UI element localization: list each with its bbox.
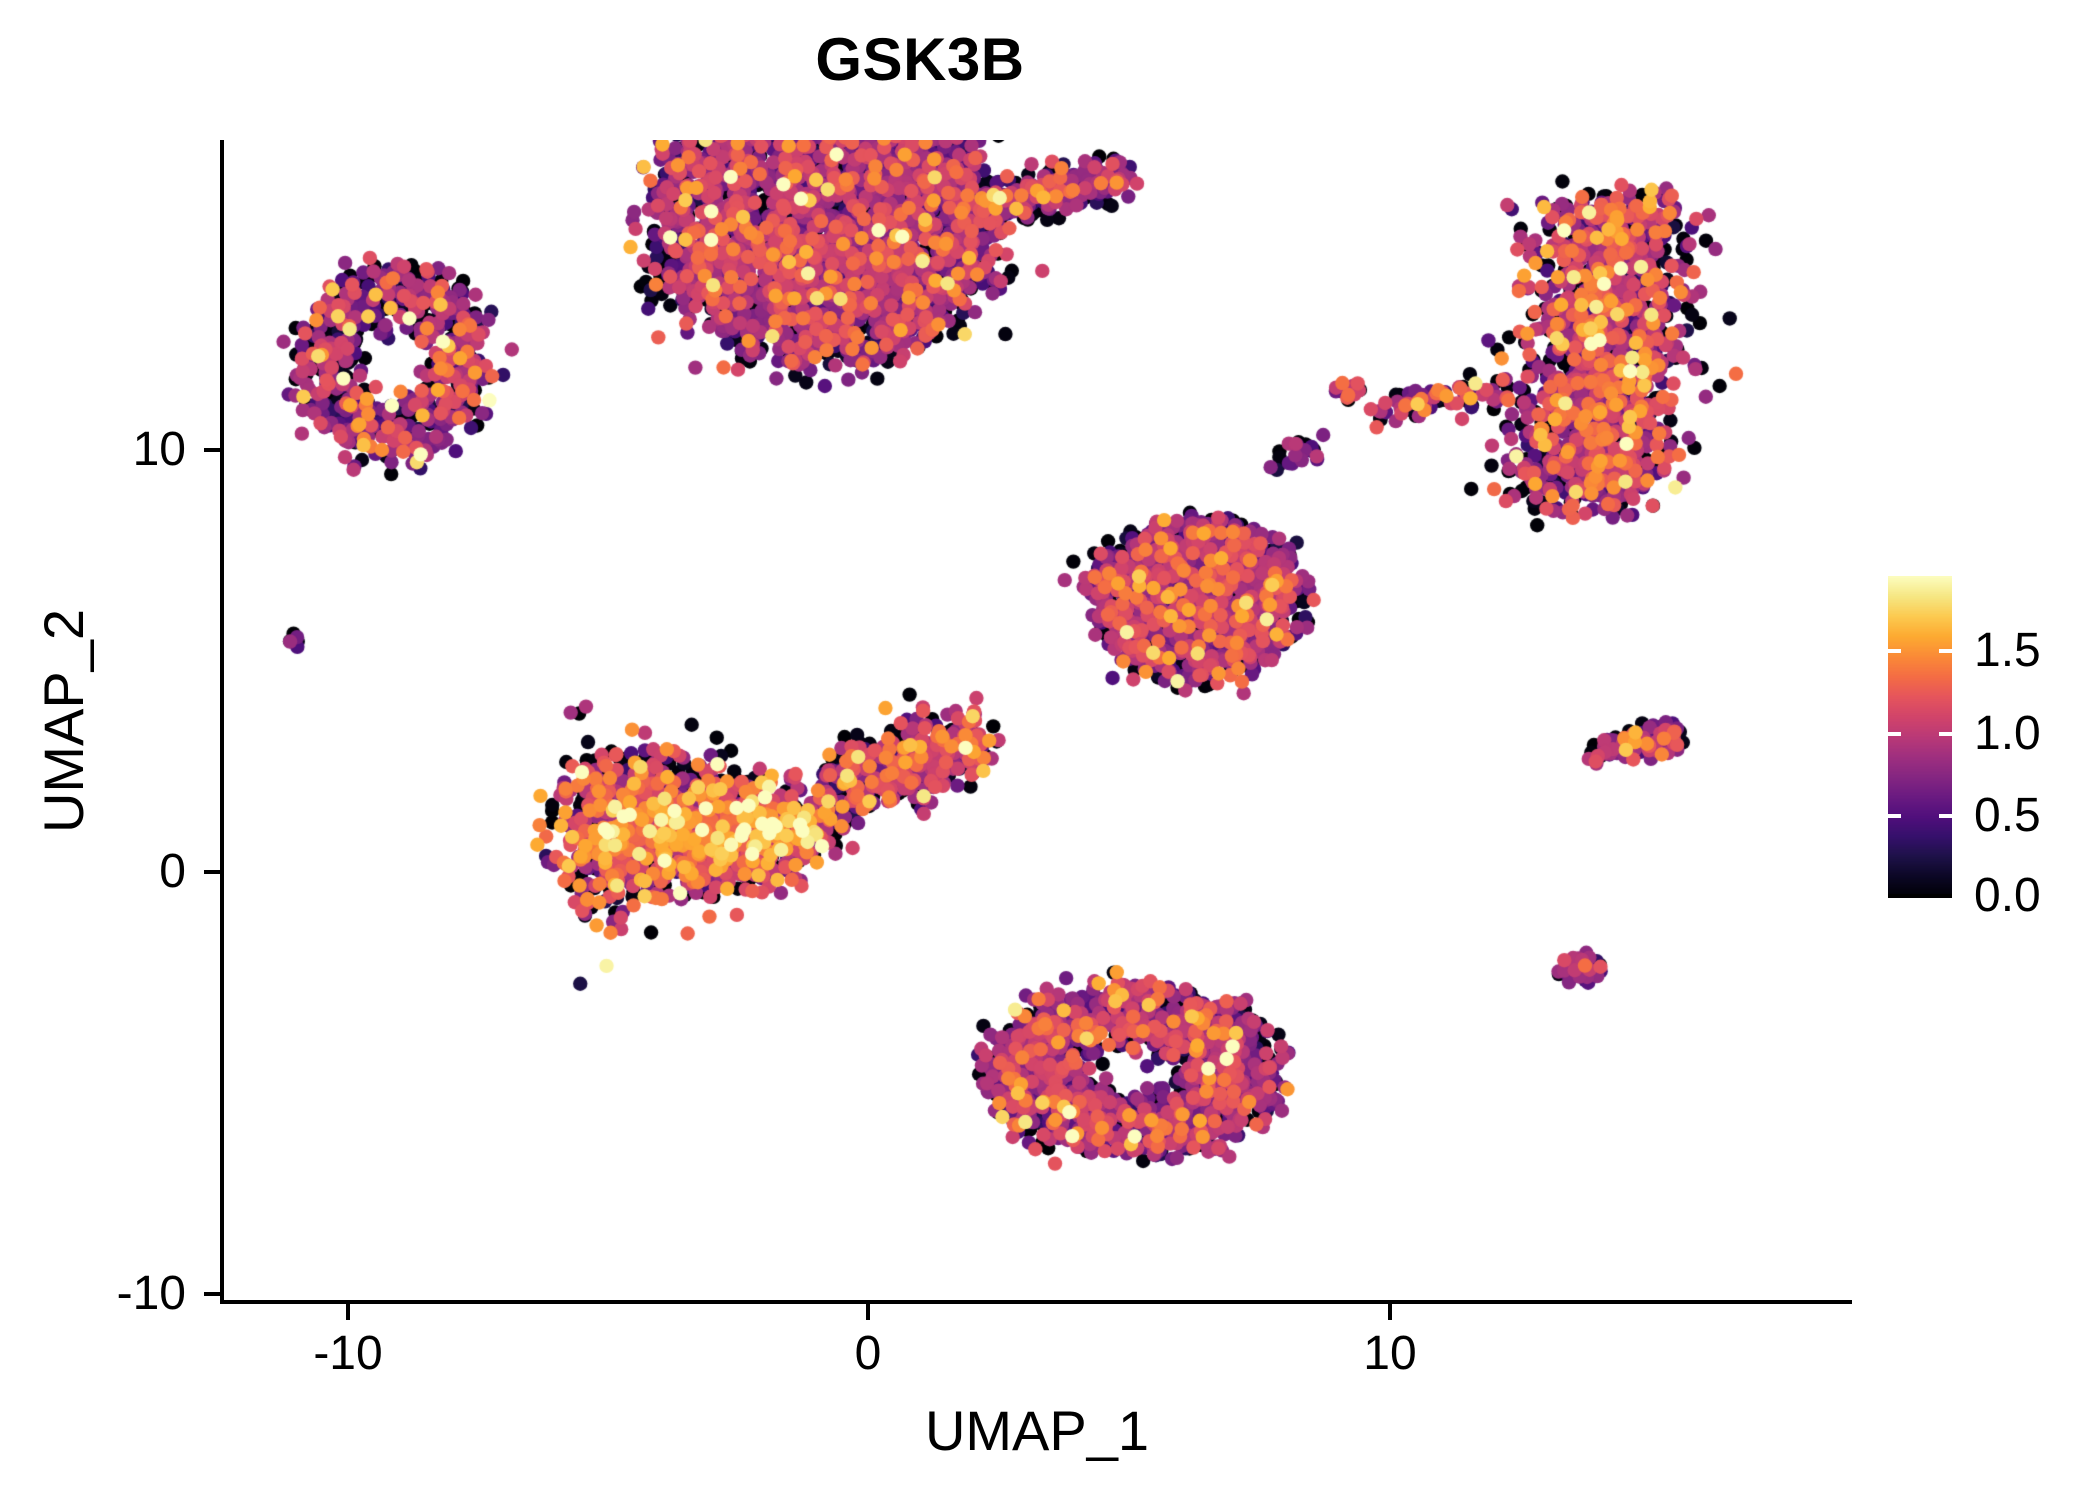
- x-tick-mark-neg10: [346, 1304, 350, 1320]
- page-title: GSK3B: [0, 24, 1840, 96]
- colorbar-tick-1-0-right: [1939, 732, 1952, 736]
- colorbar-tick-0-5-left: [1888, 814, 1901, 818]
- y-tick-mark-10: [204, 448, 220, 452]
- colorbar-tick-1-5-left: [1888, 649, 1901, 653]
- x-tick-mark-0: [866, 1304, 870, 1320]
- colorbar-tick-1-5-right: [1939, 649, 1952, 653]
- colorbar-label-0-5: 0.5: [1974, 792, 2041, 840]
- colorbar-legend: 1.5 1.0 0.5 0.0: [1888, 576, 2088, 906]
- x-tick-mark-10: [1388, 1304, 1392, 1320]
- colorbar-tick-0-0: [1888, 894, 1952, 898]
- plot-panel: [222, 140, 1852, 1302]
- y-tick-mark-neg10: [204, 1292, 220, 1296]
- x-tick-label-10: 10: [1240, 1330, 1540, 1378]
- umap-scatter-canvas: [222, 140, 1852, 1302]
- x-axis-title: UMAP_1: [222, 1400, 1852, 1462]
- colorbar-tick-1-0-left: [1888, 732, 1901, 736]
- x-tick-label-0: 0: [718, 1330, 1018, 1378]
- x-tick-label-neg10: -10: [198, 1330, 498, 1378]
- x-axis-line: [220, 1300, 1852, 1304]
- colorbar-gradient: [1888, 576, 1952, 898]
- y-tick-label-neg10: -10: [6, 1270, 186, 1318]
- colorbar-label-1-5: 1.5: [1974, 627, 2041, 675]
- y-axis-title: UMAP_2: [33, 401, 95, 1041]
- y-tick-mark-0: [204, 870, 220, 874]
- colorbar-label-0-0: 0.0: [1974, 872, 2041, 920]
- chart-root: GSK3B 10 0 -10 -10 0 10 UMAP_1 UMAP_2 1.…: [0, 0, 2100, 1500]
- colorbar-tick-0-5-right: [1939, 814, 1952, 818]
- y-axis-line: [220, 140, 224, 1304]
- colorbar-label-1-0: 1.0: [1974, 710, 2041, 758]
